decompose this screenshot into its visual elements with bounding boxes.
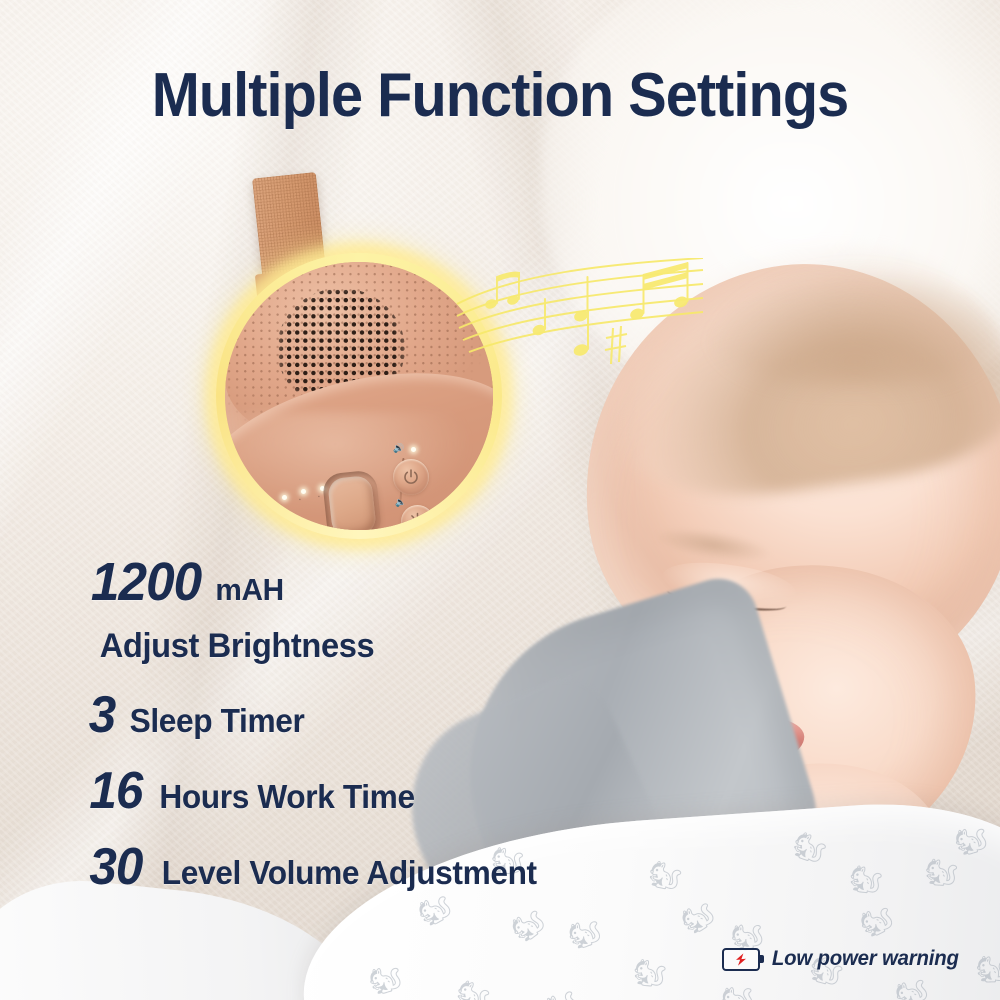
- led-label-2: ▪: [299, 497, 301, 503]
- brightness-button[interactable]: [401, 505, 434, 530]
- power-button[interactable]: [393, 459, 429, 495]
- feature-row-brightness: Adjust Brightness: [94, 629, 728, 663]
- squirrel-motif: 🐿: [856, 903, 897, 940]
- sound-machine-device: ▪ ▪ ▪ 🔊 🔈: [200, 175, 540, 550]
- page-title: Multiple Function Settings: [35, 60, 965, 131]
- marketing-image: 🐿🐿🐿🐿🐿🐿🐿🐿🐿🐿🐿🐿🐿🐿🐿🐿🐿🐿🐿🐿🐿🐿🐿🐿 Multiple Functi…: [0, 0, 1000, 1000]
- led-label-1: ▪: [280, 503, 282, 509]
- squirrel-motif: 🐿: [541, 986, 582, 1000]
- squirrel-motif: 🐿: [952, 824, 990, 857]
- squirrel-motif: 🐿: [891, 975, 931, 1000]
- squirrel-motif: 🐿: [366, 963, 404, 996]
- feature-label: Level Volume Adjustment: [162, 856, 537, 889]
- feature-row-battery: 1200 mAH: [88, 555, 728, 609]
- feature-label: Hours Work Time: [159, 780, 414, 813]
- squirrel-motif: 🐿: [924, 858, 960, 887]
- low-power-badge: Low power warning: [722, 947, 962, 971]
- indicator-led-1: [282, 495, 287, 500]
- volume-down-icon: 🔈: [395, 498, 406, 507]
- low-power-text: Low power warning: [772, 947, 959, 971]
- device-body: ▪ ▪ ▪ 🔊 🔈: [225, 262, 493, 530]
- indicator-led-2: [301, 489, 306, 494]
- battery-low-icon: [722, 948, 760, 971]
- squirrel-motif: 🐿: [975, 956, 1000, 983]
- feature-label: Adjust Brightness: [100, 629, 375, 663]
- feature-number: 16: [89, 765, 142, 817]
- squirrel-motif: 🐿: [789, 830, 829, 866]
- volume-rocker-recess: [322, 469, 383, 530]
- feature-row-work-time: 16 Hours Work Time: [88, 765, 728, 817]
- feature-row-sleep-timer: 3 Sleep Timer: [88, 689, 728, 741]
- squirrel-motif: 🐿: [453, 979, 492, 1000]
- volume-up-icon: 🔊: [393, 444, 404, 453]
- feature-row-volume-levels: 30 Level Volume Adjustment: [88, 841, 728, 893]
- feature-label: mAH: [216, 574, 284, 605]
- feature-list: 1200 mAH Adjust Brightness 3 Sleep Timer…: [88, 555, 728, 913]
- squirrel-motif: 🐿: [631, 958, 667, 988]
- baby-hair-highlight: [705, 235, 1000, 385]
- feature-number: 30: [89, 841, 142, 893]
- feature-number: 3: [89, 689, 116, 741]
- feature-label: Sleep Timer: [130, 704, 305, 737]
- feature-number: 1200: [91, 555, 201, 609]
- squirrel-motif: 🐿: [847, 864, 884, 895]
- squirrel-motif: 🐿: [565, 916, 604, 951]
- led-label-3: ▪: [318, 494, 320, 500]
- squirrel-motif: 🐿: [719, 983, 756, 1000]
- power-status-led: [411, 447, 416, 452]
